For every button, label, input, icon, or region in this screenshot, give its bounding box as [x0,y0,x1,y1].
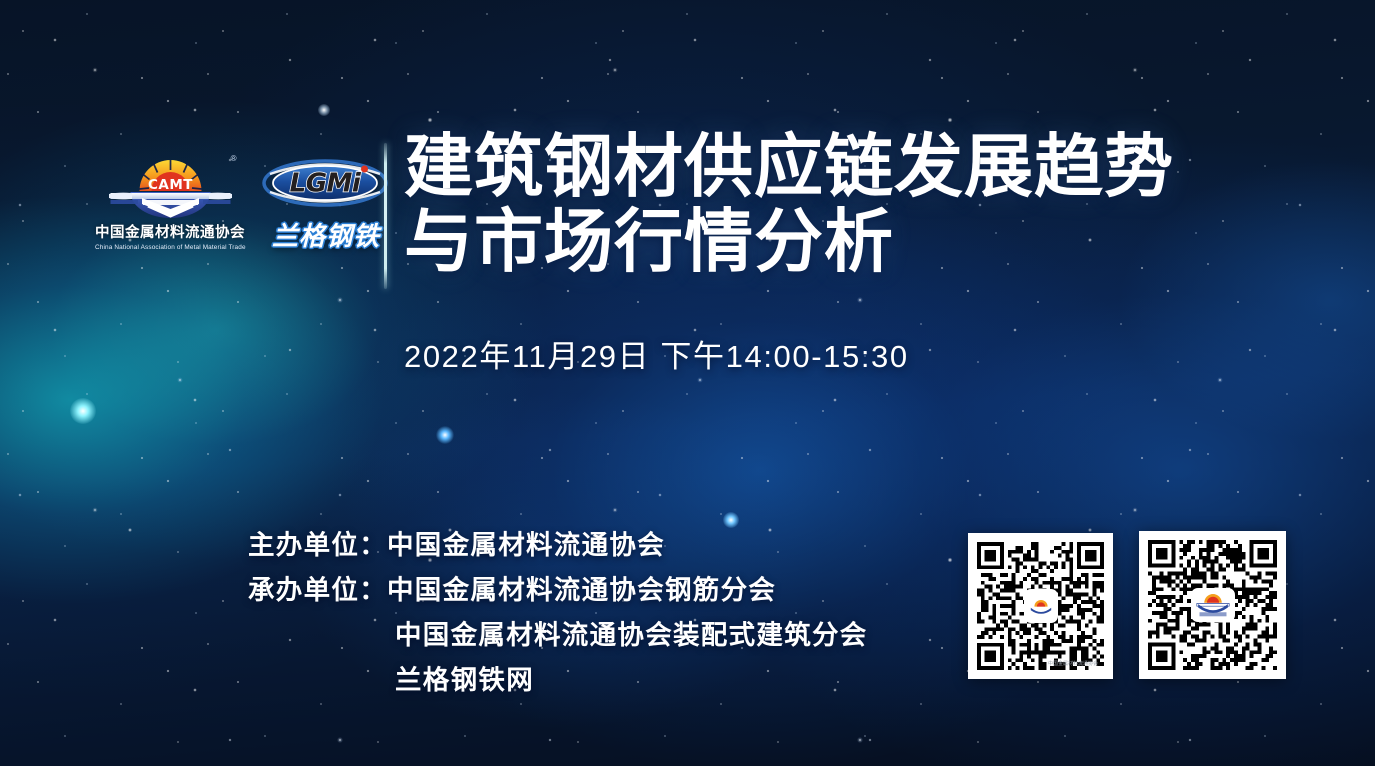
lgmi-badge-icon: LGMi [261,152,389,214]
organizer-line: 中国金属材料流通协会装配式建筑分会 [248,613,868,658]
bright-star-glow [436,426,454,444]
organizer-line: 主办单位：中国金属材料流通协会 [248,523,868,568]
organizer-line: 承办单位：中国金属材料流通协会钢筋分会 [248,568,868,613]
wechat-qr-code[interactable]: 中国金属材料流通协会 [968,533,1113,679]
official-account-qr-code[interactable] [1139,531,1286,679]
page-title: 建筑钢材供应链发展趋势 与市场行情分析 [404,130,1234,279]
lgmi-name-cn: 兰格钢铁 [261,216,391,253]
title-divider [384,143,387,289]
organizer-list: 主办单位：中国金属材料流通协会 承办单位：中国金属材料流通协会钢筋分会 中国金属… [248,523,868,703]
camt-full-icon [1193,590,1233,620]
camt-sun-icon [1026,591,1056,621]
camt-name-en: China National Association of Metal Mate… [95,244,245,251]
qr-caption: 中国金属材料流通协会 [1048,660,1098,667]
poster-header: CAMT ® 中国金属材料流 [0,0,1375,300]
title-line-1: 建筑钢材供应链发展趋势 [404,130,1234,205]
logo-group: CAMT ® 中国金属材料流 [95,150,391,253]
svg-text:CAMT: CAMT [148,177,193,193]
title-line-2: 与市场行情分析 [404,205,1234,280]
lgmi-logo: LGMi 兰格钢铁 [261,150,391,253]
event-poster: CAMT ® 中国金属材料流 [0,0,1375,766]
camt-name-cn: 中国金属材料流通协会 [95,226,245,242]
registered-trademark-icon: ® [231,154,237,163]
organizer-line: 兰格钢铁网 [248,658,868,703]
bright-star-glow [70,398,96,424]
event-datetime: 2022年11月29日 下午14:00-15:30 [404,331,909,376]
camt-logo: CAMT ® 中国金属材料流 [95,150,245,251]
svg-text:LGMi: LGMi [290,169,362,199]
camt-emblem-icon: CAMT ® [108,150,233,222]
